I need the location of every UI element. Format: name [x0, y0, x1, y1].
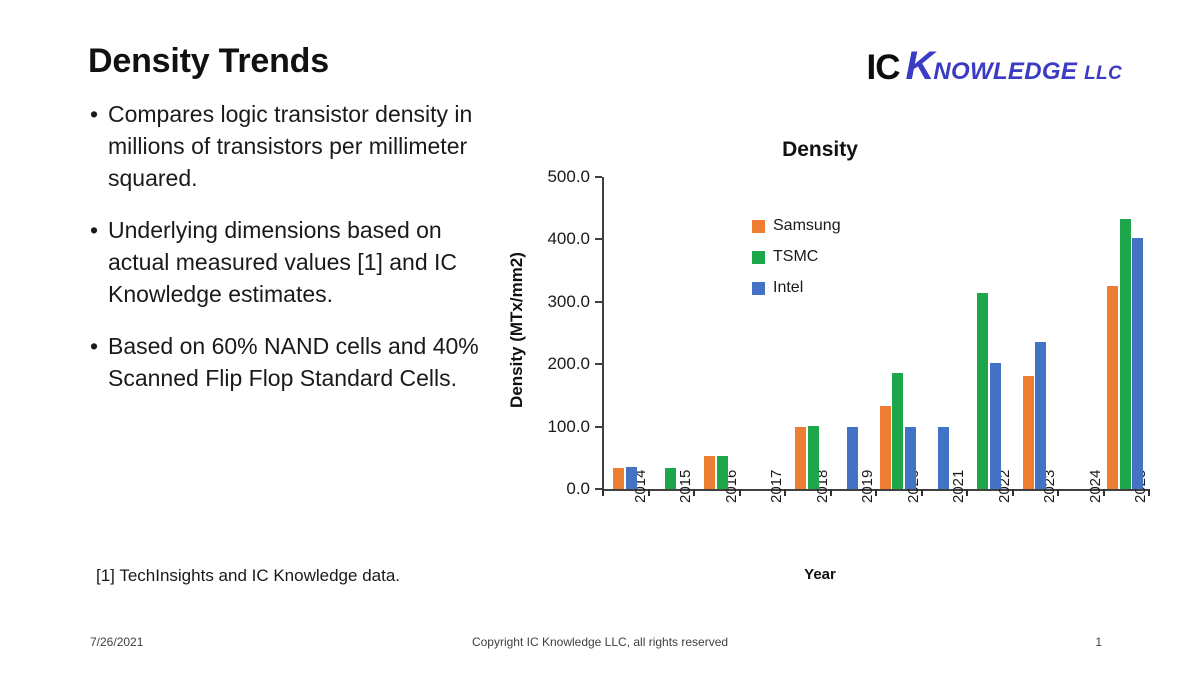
- bar-intel-2021: [938, 427, 949, 489]
- y-axis-tick-label: 500.0: [547, 167, 590, 187]
- y-axis-line: [602, 177, 604, 489]
- x-axis-tick-label: 2019: [859, 470, 876, 503]
- density-bar-chart: Density Density (MTx/mm2) Year 0.0100.02…: [495, 130, 1175, 610]
- footer-page-number: 1: [1095, 635, 1102, 649]
- list-item: • Compares logic transistor density in m…: [90, 98, 490, 194]
- slide-footer: 7/26/2021 Copyright IC Knowledge LLC, al…: [0, 635, 1200, 655]
- page-title: Density Trends: [88, 42, 329, 81]
- legend-swatch-icon: [752, 220, 765, 233]
- list-item: • Based on 60% NAND cells and 40% Scanne…: [90, 330, 490, 394]
- footnote-text: [1] TechInsights and IC Knowledge data.: [96, 566, 400, 586]
- x-axis-tick-label: 2015: [677, 470, 694, 503]
- chart-legend: SamsungTSMCIntel: [752, 217, 841, 310]
- bar-intel-2019: [847, 427, 858, 489]
- x-axis-tick-label: 2017: [768, 470, 785, 503]
- y-axis-tick: [595, 301, 602, 303]
- bar-intel-2020: [905, 427, 916, 489]
- bullet-marker-icon: •: [90, 214, 108, 246]
- logo-nowledge-text: NOWLEDGE: [933, 58, 1077, 86]
- bullet-list: • Compares logic transistor density in m…: [90, 98, 490, 414]
- ic-knowledge-logo: IC K NOWLEDGE LLC: [867, 44, 1122, 89]
- x-axis-tick-label: 2021: [950, 470, 967, 503]
- bullet-marker-icon: •: [90, 98, 108, 130]
- chart-title: Density: [495, 138, 1145, 162]
- bar-tsmc-2022: [977, 293, 988, 489]
- x-axis-tick: [602, 489, 604, 496]
- logo-llc-text: LLC: [1084, 63, 1122, 85]
- legend-label: Samsung: [773, 217, 841, 235]
- footer-copyright: Copyright IC Knowledge LLC, all rights r…: [0, 635, 1200, 649]
- bar-tsmc-2025: [1120, 219, 1131, 489]
- legend-swatch-icon: [752, 251, 765, 264]
- bar-samsung-2023: [1023, 376, 1034, 489]
- bar-tsmc-2018: [808, 426, 819, 489]
- bullet-text: Underlying dimensions based on actual me…: [108, 214, 490, 310]
- y-axis-title: Density (MTx/mm2): [507, 240, 527, 420]
- y-axis-tick-label: 400.0: [547, 229, 590, 249]
- legend-swatch-icon: [752, 282, 765, 295]
- slide-canvas: Density Trends IC K NOWLEDGE LLC • Compa…: [0, 0, 1200, 675]
- y-axis-tick-label: 100.0: [547, 417, 590, 437]
- logo-k-letter: K: [906, 44, 934, 89]
- bar-samsung-2020: [880, 406, 891, 489]
- bar-samsung-2018: [795, 427, 806, 489]
- bar-tsmc-2015: [665, 468, 676, 489]
- y-axis-tick-label: 200.0: [547, 354, 590, 374]
- list-item: • Underlying dimensions based on actual …: [90, 214, 490, 310]
- y-axis-tick: [595, 238, 602, 240]
- x-axis-tick-label: 2024: [1087, 470, 1104, 503]
- bar-samsung-2016: [704, 456, 715, 489]
- bar-tsmc-2016: [717, 456, 728, 489]
- legend-item-intel[interactable]: Intel: [752, 279, 841, 297]
- x-axis-title: Year: [495, 566, 1145, 583]
- logo-ic-text: IC: [867, 48, 900, 88]
- bullet-text: Compares logic transistor density in mil…: [108, 98, 490, 194]
- y-axis-tick: [595, 426, 602, 428]
- bullet-marker-icon: •: [90, 330, 108, 362]
- bar-intel-2022: [990, 363, 1001, 489]
- plot-area: 0.0100.0200.0300.0400.0500.0 20142015201…: [602, 177, 1148, 489]
- y-axis-tick: [595, 176, 602, 178]
- y-axis-tick-label: 0.0: [566, 479, 590, 499]
- y-axis-tick: [595, 488, 602, 490]
- legend-label: TSMC: [773, 248, 818, 266]
- bar-intel-2023: [1035, 342, 1046, 489]
- legend-item-tsmc[interactable]: TSMC: [752, 248, 841, 266]
- bar-intel-2014: [626, 467, 637, 489]
- legend-item-samsung[interactable]: Samsung: [752, 217, 841, 235]
- bullet-text: Based on 60% NAND cells and 40% Scanned …: [108, 330, 490, 394]
- y-axis-tick-label: 300.0: [547, 292, 590, 312]
- bar-samsung-2025: [1107, 286, 1118, 489]
- bar-tsmc-2020: [892, 373, 903, 489]
- bar-intel-2025: [1132, 238, 1143, 489]
- y-axis-tick: [595, 363, 602, 365]
- legend-label: Intel: [773, 279, 803, 297]
- bar-samsung-2014: [613, 468, 624, 489]
